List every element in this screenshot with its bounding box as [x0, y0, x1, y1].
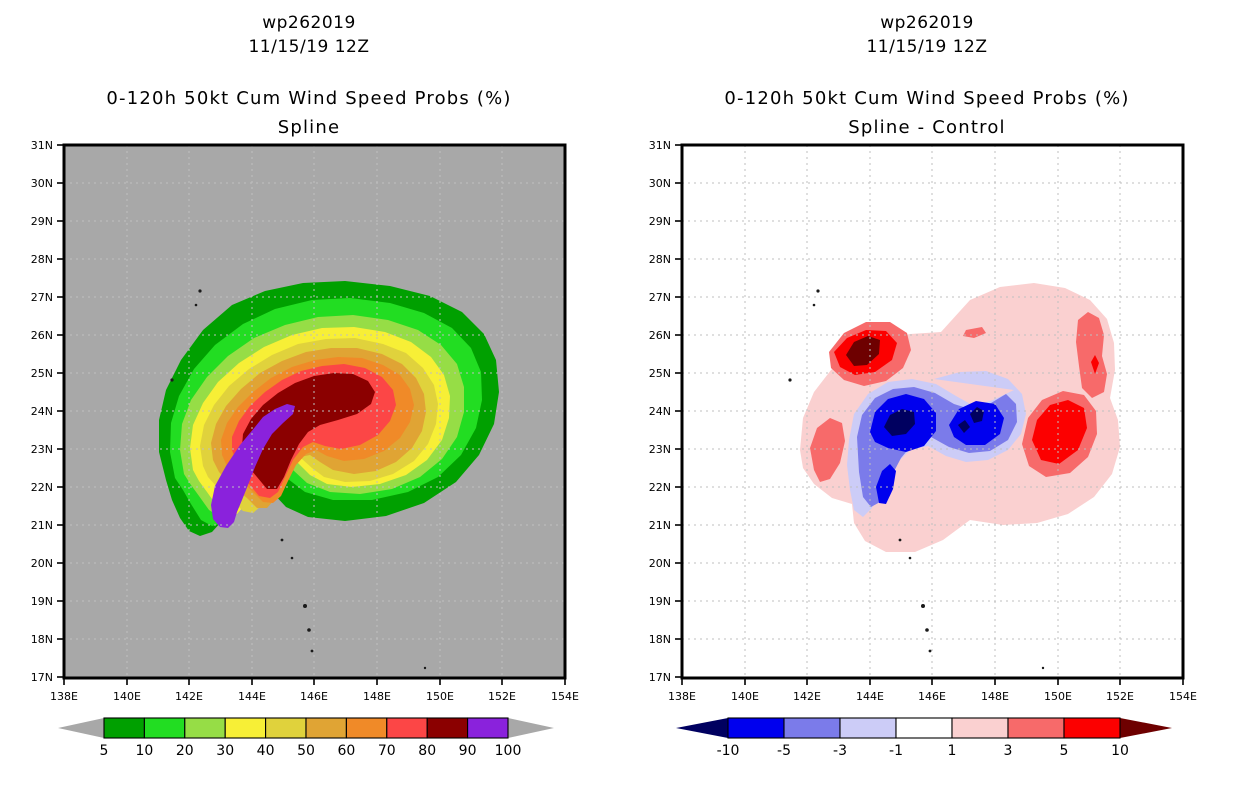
right-x-tick-label: 140E	[731, 690, 759, 703]
left-y-tick-label: 23N	[31, 443, 53, 456]
colorbar-over-arrow	[508, 718, 554, 738]
left-x-tick-label: 146E	[300, 690, 328, 703]
left-x-tick-label: 154E	[551, 690, 579, 703]
right-x-tick-label: 142E	[793, 690, 821, 703]
left-colorbar-tick-label: 90	[459, 743, 477, 759]
panel-spline: wp262019 11/15/19 12Z 0-120h 50kt Cum Wi…	[0, 0, 618, 800]
right-x-tick-label: 154E	[1169, 690, 1197, 703]
colorbar-over-arrow	[1120, 718, 1172, 738]
right-y-tick-label: 19N	[649, 595, 671, 608]
colorbar-under-arrow	[58, 718, 104, 738]
right-colorbar-tick-label: 3	[1004, 743, 1013, 759]
right-y-tick-label: 24N	[649, 405, 671, 418]
left-colorbar-swatch	[266, 718, 306, 738]
right-colorbar: -10-5-3-113510	[676, 718, 1172, 759]
left-colorbar-swatch	[306, 718, 346, 738]
right-y-tick-label: 30N	[649, 177, 671, 190]
left-colorbar-tick-label: 5	[100, 743, 109, 759]
left-y-tick-label: 30N	[31, 177, 53, 190]
right-y-tick-label: 29N	[649, 215, 671, 228]
left-plot-svg: 31N 30N 29N 28N 27N 26N 25N 24N 23N 22N …	[0, 0, 618, 800]
left-y-tick-label: 28N	[31, 253, 53, 266]
right-colorbar-tick-label: 10	[1111, 743, 1129, 759]
left-y-tick-label: 17N	[31, 671, 53, 684]
left-y-tick-label: 18N	[31, 633, 53, 646]
left-colorbar: 5102030405060708090100	[58, 718, 554, 759]
left-colorbar-swatch	[468, 718, 508, 738]
right-y-tick-label: 28N	[649, 253, 671, 266]
right-colorbar-tick-label: 1	[948, 743, 957, 759]
right-colorbar-tick-label: -5	[777, 743, 791, 759]
right-colorbar-swatch	[1064, 718, 1120, 738]
right-x-tick-label: 144E	[856, 690, 884, 703]
right-y-tick-label: 23N	[649, 443, 671, 456]
left-colorbar-swatch	[104, 718, 144, 738]
right-plot-svg: 31N 30N 29N 28N 27N 26N 25N 24N 23N 22N …	[618, 0, 1236, 800]
left-colorbar-tick-label: 30	[216, 743, 234, 759]
left-colorbar-swatch	[346, 718, 386, 738]
left-y-tick-label: 21N	[31, 519, 53, 532]
left-x-tick-label: 148E	[363, 690, 391, 703]
left-x-tick-label: 152E	[488, 690, 516, 703]
left-y-tick-label: 20N	[31, 557, 53, 570]
left-colorbar-swatch	[387, 718, 427, 738]
left-y-tick-label: 29N	[31, 215, 53, 228]
right-colorbar-tick-label: -3	[833, 743, 847, 759]
left-colorbar-tick-label: 50	[297, 743, 315, 759]
left-colorbar-tick-label: 40	[257, 743, 275, 759]
left-colorbar-tick-label: 70	[378, 743, 396, 759]
colorbar-under-arrow	[676, 718, 728, 738]
right-y-tick-label: 27N	[649, 291, 671, 304]
right-colorbar-swatch	[896, 718, 952, 738]
right-colorbar-tick-label: -1	[889, 743, 903, 759]
right-colorbar-swatch	[952, 718, 1008, 738]
left-colorbar-tick-label: 100	[495, 743, 522, 759]
right-y-tick-label: 22N	[649, 481, 671, 494]
right-y-tick-label: 21N	[649, 519, 671, 532]
right-x-tick-label: 150E	[1044, 690, 1072, 703]
left-colorbar-swatch	[225, 718, 265, 738]
right-x-tick-label: 148E	[981, 690, 1009, 703]
right-colorbar-tick-label: -10	[717, 743, 740, 759]
left-y-tick-label: 25N	[31, 367, 53, 380]
right-x-tick-label: 138E	[668, 690, 696, 703]
left-y-tick-label: 27N	[31, 291, 53, 304]
left-colorbar-swatch	[144, 718, 184, 738]
left-y-tick-label: 26N	[31, 329, 53, 342]
left-colorbar-tick-label: 10	[135, 743, 153, 759]
right-colorbar-swatch	[728, 718, 784, 738]
right-y-tick-label: 26N	[649, 329, 671, 342]
right-y-tick-label: 25N	[649, 367, 671, 380]
left-x-tick-label: 144E	[238, 690, 266, 703]
left-y-tick-label: 22N	[31, 481, 53, 494]
left-y-axis: 31N 30N 29N 28N 27N 26N 25N 24N 23N 22N …	[31, 139, 64, 684]
left-x-tick-label: 150E	[426, 690, 454, 703]
left-x-tick-label: 142E	[175, 690, 203, 703]
left-colorbar-swatch	[427, 718, 467, 738]
right-x-axis: 138E 140E 142E 144E 146E 148E 150E 152E …	[668, 678, 1197, 703]
right-y-tick-label: 18N	[649, 633, 671, 646]
left-colorbar-tick-label: 60	[337, 743, 355, 759]
panel-spline-minus-control: wp262019 11/15/19 12Z 0-120h 50kt Cum Wi…	[618, 0, 1236, 800]
right-y-axis: 31N 30N 29N 28N 27N 26N 25N 24N 23N 22N …	[649, 139, 682, 684]
right-x-tick-label: 152E	[1106, 690, 1134, 703]
right-colorbar-swatch	[840, 718, 896, 738]
left-colorbar-swatch	[185, 718, 225, 738]
right-y-tick-label: 20N	[649, 557, 671, 570]
left-y-tick-label: 19N	[31, 595, 53, 608]
right-x-tick-label: 146E	[918, 690, 946, 703]
right-y-tick-label: 17N	[649, 671, 671, 684]
left-x-tick-label: 140E	[113, 690, 141, 703]
left-colorbar-tick-label: 20	[176, 743, 194, 759]
left-x-axis: 138E 140E 142E 144E 146E 148E 150E 152E …	[50, 678, 579, 703]
right-colorbar-tick-label: 5	[1060, 743, 1069, 759]
left-x-tick-label: 138E	[50, 690, 78, 703]
right-y-tick-label: 31N	[649, 139, 671, 152]
right-colorbar-swatch	[784, 718, 840, 738]
right-colorbar-swatch	[1008, 718, 1064, 738]
left-colorbar-tick-label: 80	[418, 743, 436, 759]
left-y-tick-label: 31N	[31, 139, 53, 152]
left-y-tick-label: 24N	[31, 405, 53, 418]
